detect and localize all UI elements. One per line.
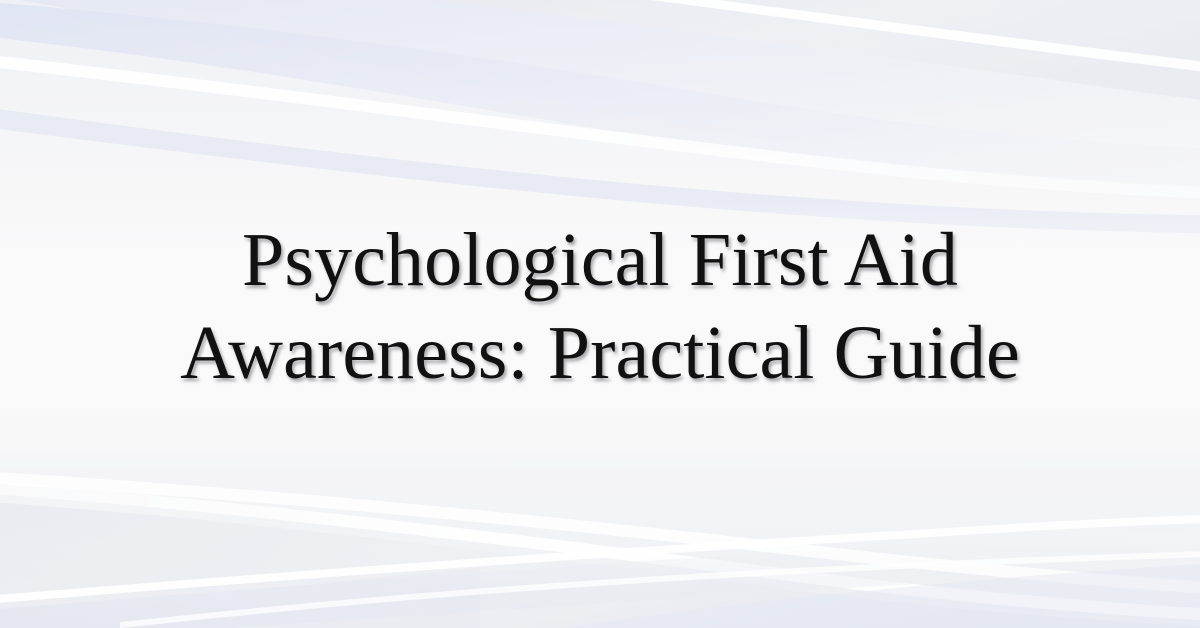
title-banner: Psychological First Aid Awareness: Pract… [0,0,1200,628]
page-title: Psychological First Aid Awareness: Pract… [100,214,1100,400]
title-container: Psychological First Aid Awareness: Pract… [0,0,1200,628]
